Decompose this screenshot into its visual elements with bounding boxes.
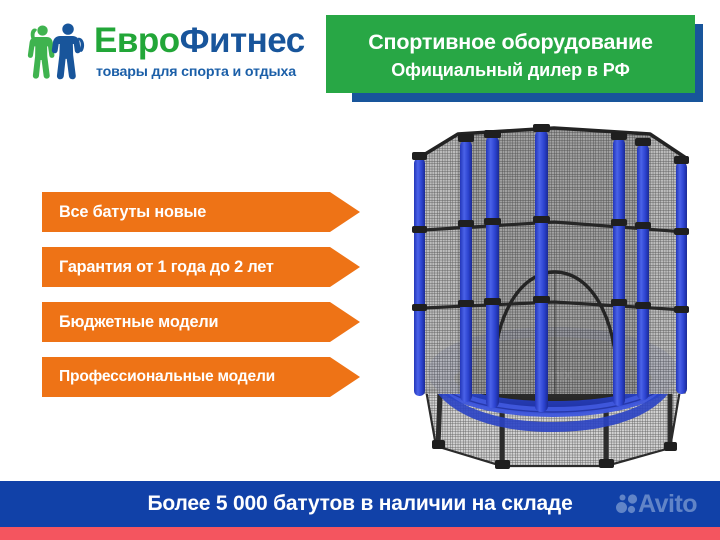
promo-banner-canvas: ЕвроФитнес товары для спорта и отдыха Сп… <box>0 0 720 540</box>
feature-tag[interactable]: Профессиональные модели <box>42 357 372 397</box>
feature-tag-label: Гарантия от 1 года до 2 лет <box>59 247 274 287</box>
product-image-trampoline: Unix SPORT <box>398 122 708 470</box>
feature-tag[interactable]: Все батуты новые <box>42 192 372 232</box>
avito-watermark: Avito <box>616 487 716 521</box>
fitness-people-icon <box>22 20 94 82</box>
logo-word-evro: Евро <box>94 21 180 60</box>
feature-tag-label: Бюджетные модели <box>59 302 218 342</box>
footer-banner: Более 5 000 батутов в наличии на складе <box>0 481 720 527</box>
header-banner-line1: Спортивное оборудование <box>326 28 695 56</box>
feature-tag-label: Профессиональные модели <box>59 357 275 397</box>
header-banner-line2: Официальный дилер в РФ <box>326 58 695 82</box>
logo-tagline: товары для спорта и отдыха <box>96 63 328 81</box>
feature-tag[interactable]: Гарантия от 1 года до 2 лет <box>42 247 372 287</box>
logo-word-fitnes: Фитнес <box>180 21 305 60</box>
feature-tag-list: Все батуты новые Гарантия от 1 года до 2… <box>42 192 372 412</box>
avito-logo-icon <box>616 493 638 515</box>
logo-wordmark: ЕвроФитнес <box>94 18 324 64</box>
footer-accent-strip <box>0 527 720 540</box>
brand-logo: ЕвроФитнес товары для спорта и отдыха <box>22 18 322 90</box>
footer-banner-text: Более 5 000 батутов в наличии на складе <box>0 481 720 527</box>
feature-tag[interactable]: Бюджетные модели <box>42 302 372 342</box>
feature-tag-label: Все батуты новые <box>59 192 206 232</box>
avito-wordmark: Avito <box>638 489 697 519</box>
header-banner: Спортивное оборудование Официальный диле… <box>326 15 695 93</box>
